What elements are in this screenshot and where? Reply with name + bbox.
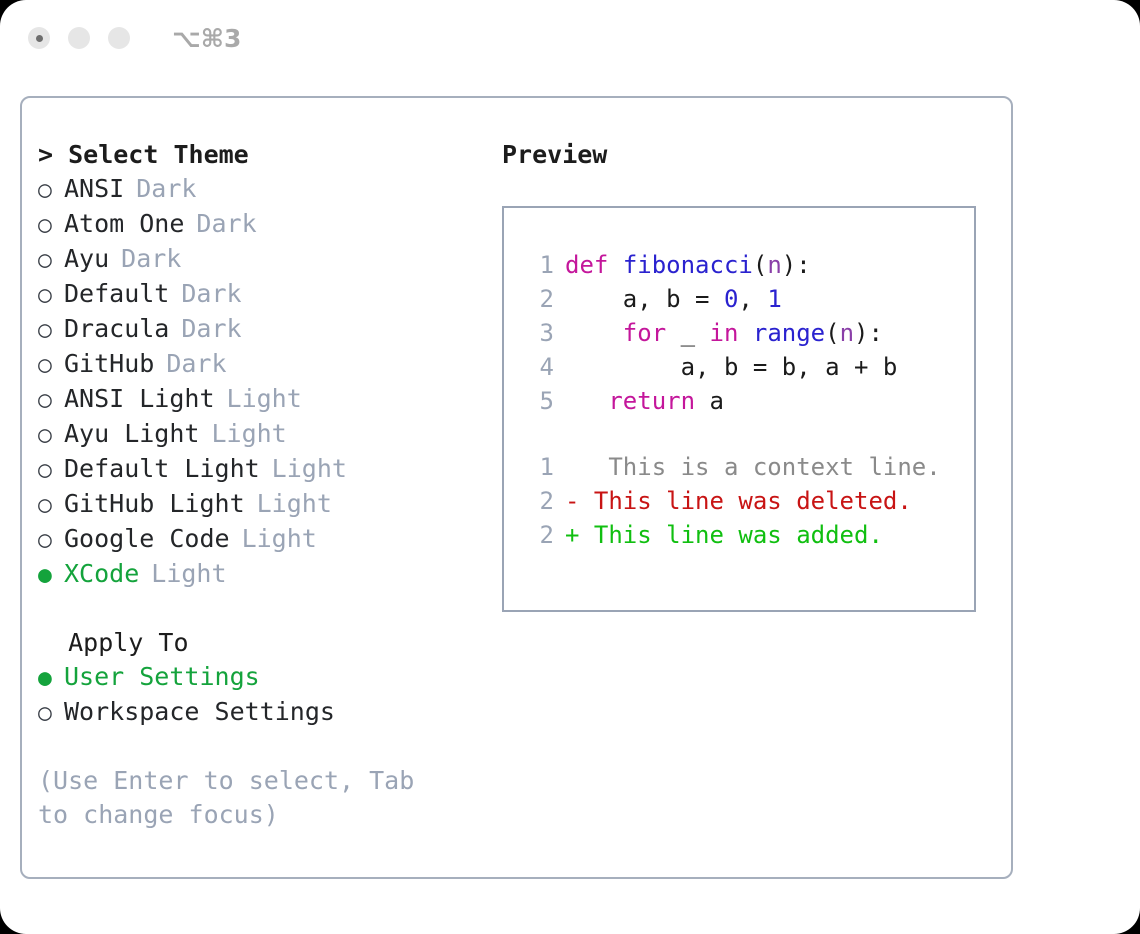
theme-name: Google Code	[64, 522, 230, 556]
theme-list-item[interactable]: ○DraculaDark	[38, 312, 488, 347]
code-line-content: def fibonacci(n):	[565, 248, 811, 282]
theme-list-item[interactable]: ○Ayu LightLight	[38, 417, 488, 452]
radio-unselected-icon: ○	[38, 696, 64, 730]
window-dot-second-icon[interactable]	[68, 27, 90, 49]
diff-line: 2+ This line was added.	[524, 518, 974, 552]
code-token-pl: ):	[854, 319, 883, 347]
code-line: 3 for _ in range(n):	[524, 316, 974, 350]
diff-line-number: 1	[524, 450, 554, 484]
window-dot-active-icon[interactable]	[28, 27, 50, 49]
code-line: 4 a, b = b, a + b	[524, 350, 974, 384]
code-token-var: n	[840, 319, 854, 347]
theme-list: ○ANSIDark○Atom OneDark○AyuDark○DefaultDa…	[38, 172, 488, 592]
diff-line-content: This line was deleted.	[579, 484, 911, 518]
code-line: 1def fibonacci(n):	[524, 248, 974, 282]
code-token-var: n	[767, 251, 781, 279]
radio-unselected-icon: ○	[38, 383, 64, 417]
code-line: 5 return a	[524, 384, 974, 418]
radio-unselected-icon: ○	[38, 278, 64, 312]
theme-list-item[interactable]: ○ANSIDark	[38, 172, 488, 207]
radio-unselected-icon: ○	[38, 348, 64, 382]
code-token-kw: return	[608, 387, 695, 415]
code-token-pl: (	[753, 251, 767, 279]
code-line-content: return a	[565, 384, 724, 418]
theme-name: Ayu Light	[64, 417, 199, 451]
code-preview-panel: 1def fibonacci(n):2 a, b = 0, 13 for _ i…	[502, 206, 976, 612]
theme-name: ANSI Light	[64, 382, 215, 416]
radio-unselected-icon: ○	[38, 418, 64, 452]
code-token-kw: for	[623, 319, 666, 347]
app-window: ⌥⌘3 > Select Theme ○ANSIDark○Atom OneDar…	[0, 0, 1140, 934]
apply-to-label: Workspace Settings	[64, 695, 335, 729]
apply-to-label: User Settings	[64, 660, 260, 694]
theme-list-item[interactable]: ○GitHub LightLight	[38, 487, 488, 522]
code-token-pl	[565, 387, 608, 415]
theme-list-item[interactable]: ○Default LightLight	[38, 452, 488, 487]
diff-line-number: 2	[524, 484, 554, 518]
theme-name: GitHub Light	[64, 487, 245, 521]
radio-unselected-icon: ○	[38, 523, 64, 557]
theme-variant-label: Dark	[181, 277, 241, 311]
code-token-num: 1	[767, 285, 781, 313]
theme-variant-label: Dark	[121, 242, 181, 276]
apply-to-spacer	[38, 592, 488, 626]
theme-list-item[interactable]: ○ANSI LightLight	[38, 382, 488, 417]
code-line-content: a, b = 0, 1	[565, 282, 782, 316]
code-token-num: 0	[724, 285, 738, 313]
radio-unselected-icon: ○	[38, 173, 64, 207]
hint-spacer	[38, 730, 488, 764]
theme-name: GitHub	[64, 347, 154, 381]
theme-list-item[interactable]: ○Google CodeLight	[38, 522, 488, 557]
theme-name: Default	[64, 277, 169, 311]
code-token-fn: range	[753, 319, 825, 347]
window-titlebar: ⌥⌘3	[0, 0, 1140, 76]
theme-name: Ayu	[64, 242, 109, 276]
code-token-kw: in	[710, 319, 739, 347]
theme-variant-label: Light	[211, 417, 286, 451]
preview-column: Preview 1def fibonacci(n):2 a, b = 0, 13…	[502, 138, 997, 612]
apply-to-option[interactable]: ○Workspace Settings	[38, 695, 488, 730]
theme-list-item[interactable]: ○DefaultDark	[38, 277, 488, 312]
theme-list-item[interactable]: ○Atom OneDark	[38, 207, 488, 242]
radio-unselected-icon: ○	[38, 453, 64, 487]
apply-to-list: ●User Settings○Workspace Settings	[38, 660, 488, 730]
code-line-number: 2	[524, 282, 554, 316]
code-token-pl: (	[825, 319, 839, 347]
theme-variant-label: Dark	[166, 347, 226, 381]
apply-to-option[interactable]: ●User Settings	[38, 660, 488, 695]
keyboard-shortcut-label: ⌥⌘3	[172, 24, 241, 53]
theme-list-item[interactable]: ●XCodeLight	[38, 557, 488, 592]
code-token-pl: a	[695, 387, 724, 415]
code-token-pl: _	[666, 319, 709, 347]
diff-line: 1 This is a context line.	[524, 450, 974, 484]
theme-variant-label: Dark	[196, 207, 256, 241]
diff-marker: -	[565, 484, 579, 518]
theme-variant-label: Light	[151, 557, 226, 591]
radio-selected-icon: ●	[38, 661, 64, 695]
theme-name: Dracula	[64, 312, 169, 346]
theme-name: ANSI	[64, 172, 124, 206]
code-line-content: a, b = b, a + b	[565, 350, 897, 384]
code-line-number: 1	[524, 248, 554, 282]
diff-line-number: 2	[524, 518, 554, 552]
diff-marker	[565, 450, 579, 484]
code-line-number: 3	[524, 316, 554, 350]
code-token-pl: ,	[738, 285, 767, 313]
code-line: 2 a, b = 0, 1	[524, 282, 974, 316]
radio-unselected-icon: ○	[38, 488, 64, 522]
radio-unselected-icon: ○	[38, 208, 64, 242]
window-controls	[28, 27, 130, 49]
theme-variant-label: Dark	[181, 312, 241, 346]
code-token-pl: ):	[782, 251, 811, 279]
radio-selected-icon: ●	[38, 558, 64, 592]
theme-variant-label: Light	[257, 487, 332, 521]
diff-marker: +	[565, 518, 579, 552]
radio-unselected-icon: ○	[38, 313, 64, 347]
theme-picker-frame: > Select Theme ○ANSIDark○Atom OneDark○Ay…	[20, 96, 1013, 879]
diff-line: 2- This line was deleted.	[524, 484, 974, 518]
radio-unselected-icon: ○	[38, 243, 64, 277]
code-token-fn: fibonacci	[623, 251, 753, 279]
theme-name: Default Light	[64, 452, 260, 486]
select-theme-heading: > Select Theme	[38, 138, 488, 172]
code-line-number: 4	[524, 350, 554, 384]
code-token-pl	[608, 251, 622, 279]
theme-variant-label: Dark	[136, 172, 196, 206]
diff-sample: 1 This is a context line.2- This line wa…	[524, 450, 974, 552]
apply-to-heading: Apply To	[38, 626, 488, 660]
theme-list-item[interactable]: ○GitHubDark	[38, 347, 488, 382]
code-diff-gap	[524, 418, 974, 450]
code-token-pl: a, b = b, a + b	[565, 353, 897, 381]
theme-variant-label: Light	[227, 382, 302, 416]
code-token-pl: a, b =	[565, 285, 724, 313]
theme-name: Atom One	[64, 207, 184, 241]
window-dot-active-inner-icon	[36, 35, 43, 42]
theme-name: XCode	[64, 557, 139, 591]
diff-line-content: This is a context line.	[579, 450, 940, 484]
theme-selection-column: > Select Theme ○ANSIDark○Atom OneDark○Ay…	[38, 138, 488, 832]
code-line-content: for _ in range(n):	[565, 316, 883, 350]
diff-line-content: This line was added.	[579, 518, 882, 552]
code-token-kw: def	[565, 251, 608, 279]
window-dot-third-icon[interactable]	[108, 27, 130, 49]
code-token-pl	[738, 319, 752, 347]
theme-list-item[interactable]: ○AyuDark	[38, 242, 488, 277]
code-token-pl	[565, 319, 623, 347]
theme-variant-label: Light	[242, 522, 317, 556]
code-line-number: 5	[524, 384, 554, 418]
preview-heading: Preview	[502, 138, 997, 172]
code-sample: 1def fibonacci(n):2 a, b = 0, 13 for _ i…	[524, 248, 974, 418]
theme-variant-label: Light	[272, 452, 347, 486]
keyboard-hint-text: (Use Enter to select, Tab to change focu…	[38, 764, 438, 832]
